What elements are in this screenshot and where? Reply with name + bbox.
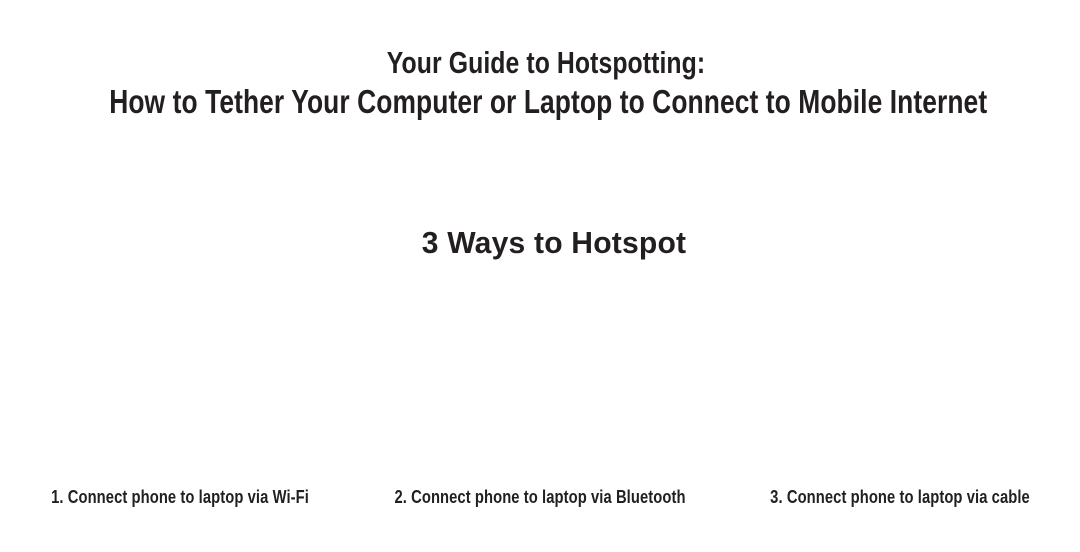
caption-row: 1. Connect phone to laptop via Wi-Fi 2. … <box>0 486 1080 512</box>
illustration-row <box>0 272 1080 478</box>
section-heading: 3 Ways to Hotspot <box>17 222 1080 264</box>
caption-method-3: 3. Connect phone to laptop via cable <box>752 486 1047 508</box>
title-line-2: How to Tether Your Computer or Laptop to… <box>109 82 983 122</box>
poster-title: Your Guide to Hotspotting: How to Tether… <box>0 44 1080 122</box>
title-line-1: Your Guide to Hotspotting: <box>109 44 983 82</box>
caption-method-2: 2. Connect phone to laptop via Bluetooth <box>392 486 687 508</box>
illustration-wifi <box>0 272 360 478</box>
illustration-cable <box>720 272 1080 478</box>
infographic-poster: Your Guide to Hotspotting: How to Tether… <box>0 0 1080 552</box>
illustration-bluetooth <box>360 272 720 478</box>
caption-method-1: 1. Connect phone to laptop via Wi-Fi <box>32 486 327 508</box>
